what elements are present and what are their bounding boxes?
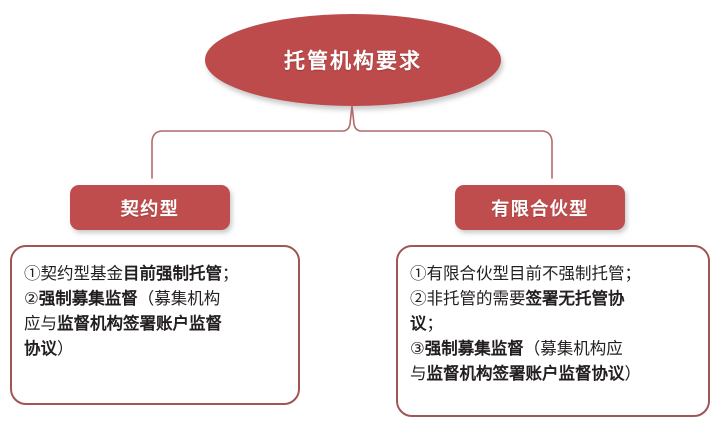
emphasis-text: 议	[410, 314, 427, 333]
connector-left-branch	[152, 106, 352, 178]
emphasis-text: 强制募集监督	[425, 339, 524, 358]
detail-line: 应与监督机构签署账户监督	[24, 311, 286, 336]
emphasis-text: 监督机构签署账户监督协议	[427, 364, 625, 383]
branch-label-contractual[interactable]: 契约型	[70, 185, 230, 230]
body-text: （募集机构应	[524, 339, 623, 358]
emphasis-text: 监督机构签署账户监督	[57, 314, 222, 333]
branch-label-limited-partnership[interactable]: 有限合伙型	[455, 185, 625, 230]
curly-brace-connector	[0, 100, 716, 190]
detail-line: ③强制募集监督（募集机构应	[410, 336, 696, 361]
body-text: ①契约型基金	[24, 264, 123, 283]
branch-label-contractual-text: 契约型	[121, 195, 180, 221]
detail-box-contractual: ①契约型基金目前强制托管；②强制募集监督（募集机构应与监督机构签署账户监督协议）	[10, 245, 300, 405]
emphasis-text: 目前强制托管	[123, 264, 222, 283]
diagram-canvas: 托管机构要求 契约型 有限合伙型 ①契约型基金目前强制托管；②强制募集监督（募集…	[0, 0, 716, 427]
body-text: ）	[57, 339, 74, 358]
body-text: ①有限合伙型目前不强制托管；	[410, 264, 641, 283]
connector-right-branch	[352, 106, 552, 178]
detail-line: 协议）	[24, 336, 286, 361]
detail-line: ①契约型基金目前强制托管；	[24, 261, 286, 286]
root-node-label: 托管机构要求	[284, 45, 422, 75]
detail-line: ②非托管的需要签署无托管协	[410, 286, 696, 311]
emphasis-text: 签署无托管协	[526, 289, 625, 308]
body-text: ③	[410, 339, 425, 358]
emphasis-text: 协议	[24, 339, 57, 358]
detail-box-limited-partnership: ①有限合伙型目前不强制托管；②非托管的需要签署无托管协议；③强制募集监督（募集机…	[396, 245, 710, 417]
detail-line: 与监督机构签署账户监督协议）	[410, 361, 696, 386]
root-node-ellipse[interactable]: 托管机构要求	[205, 14, 501, 106]
body-text: ②	[24, 289, 39, 308]
body-text: 应与	[24, 314, 57, 333]
emphasis-text: 强制募集监督	[39, 289, 138, 308]
body-text: ②非托管的需要	[410, 289, 526, 308]
body-text: ；	[222, 264, 239, 283]
branch-label-limited-partnership-text: 有限合伙型	[491, 195, 589, 221]
detail-line: 议；	[410, 311, 696, 336]
body-text: （募集机构	[138, 289, 221, 308]
body-text: ；	[427, 314, 444, 333]
body-text: 与	[410, 364, 427, 383]
detail-line: ②强制募集监督（募集机构	[24, 286, 286, 311]
body-text: ）	[625, 364, 642, 383]
detail-line: ①有限合伙型目前不强制托管；	[410, 261, 696, 286]
